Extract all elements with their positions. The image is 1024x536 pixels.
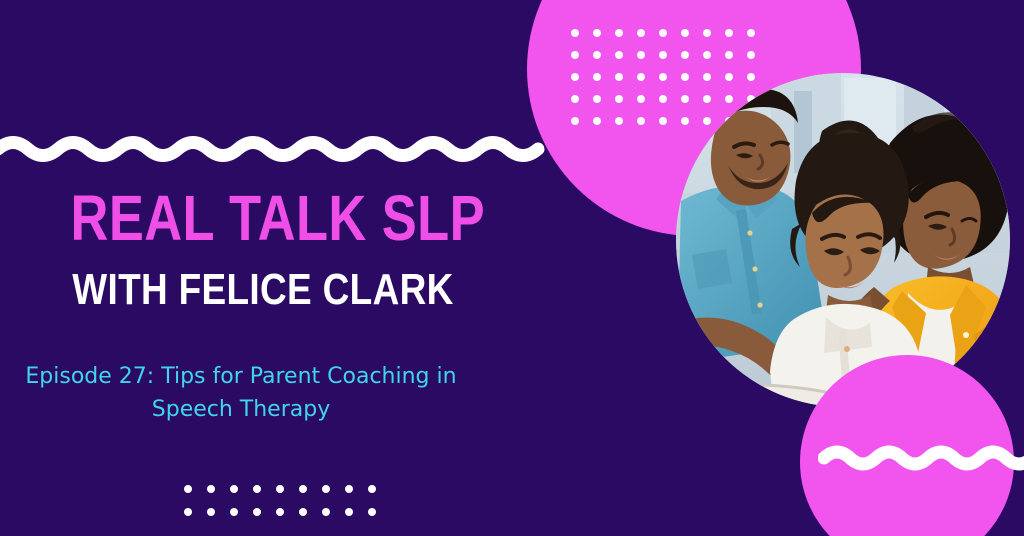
podcast-host-line: WITH FELICE CLARK bbox=[0, 250, 445, 312]
decorative-dot bbox=[703, 73, 711, 81]
decorative-dot bbox=[725, 51, 733, 59]
decorative-dot bbox=[593, 73, 601, 81]
decorative-dot bbox=[593, 117, 601, 125]
decorative-dot bbox=[571, 117, 579, 125]
decorative-dot bbox=[253, 508, 261, 516]
decorative-dot bbox=[747, 73, 755, 81]
family-photo-illustration bbox=[676, 73, 1010, 407]
decorative-dot bbox=[659, 73, 667, 81]
decorative-dot bbox=[637, 73, 645, 81]
decorative-dot bbox=[659, 29, 667, 37]
decorative-dot bbox=[368, 485, 376, 493]
decorative-dot bbox=[253, 485, 261, 493]
wave-on-circle-decoration bbox=[818, 444, 1024, 484]
decorative-dot bbox=[345, 485, 353, 493]
decorative-dot bbox=[571, 73, 579, 81]
decorative-dot bbox=[681, 117, 689, 125]
wave-top-decoration bbox=[0, 133, 552, 177]
decorative-dot bbox=[703, 95, 711, 103]
family-photo-circle bbox=[676, 73, 1010, 407]
title-text-block: REAL TALK SLP WITH FELICE CLARK Episode … bbox=[0, 186, 530, 426]
decorative-dot bbox=[571, 51, 579, 59]
decorative-dot bbox=[322, 485, 330, 493]
decorative-dot bbox=[659, 95, 667, 103]
decorative-dot bbox=[725, 29, 733, 37]
decorative-dot bbox=[659, 51, 667, 59]
decorative-dot bbox=[230, 508, 238, 516]
decorative-dot bbox=[207, 485, 215, 493]
decorative-dot bbox=[637, 29, 645, 37]
decorative-dot bbox=[322, 508, 330, 516]
decorative-dot bbox=[615, 95, 623, 103]
decorative-dot bbox=[615, 29, 623, 37]
decorative-dot bbox=[747, 51, 755, 59]
decorative-dot bbox=[703, 117, 711, 125]
decorative-dot bbox=[681, 73, 689, 81]
decorative-dot bbox=[571, 29, 579, 37]
decorative-dot bbox=[703, 51, 711, 59]
decorative-dot bbox=[725, 73, 733, 81]
decorative-dot bbox=[681, 95, 689, 103]
decorative-dot bbox=[276, 508, 284, 516]
decorative-dot bbox=[615, 51, 623, 59]
podcast-cover-canvas: REAL TALK SLP WITH FELICE CLARK Episode … bbox=[0, 0, 1024, 536]
decorative-dot bbox=[230, 485, 238, 493]
decorative-dot bbox=[703, 29, 711, 37]
decorative-dot bbox=[299, 508, 307, 516]
decorative-dot bbox=[637, 95, 645, 103]
podcast-title: REAL TALK SLP bbox=[0, 186, 435, 250]
decorative-dot bbox=[747, 29, 755, 37]
decorative-dot bbox=[725, 95, 733, 103]
decorative-dot bbox=[593, 51, 601, 59]
decorative-dot bbox=[299, 485, 307, 493]
decorative-dot bbox=[276, 485, 284, 493]
decorative-dot bbox=[681, 29, 689, 37]
decorative-dot bbox=[368, 508, 376, 516]
decorative-dot bbox=[659, 117, 667, 125]
episode-title: Episode 27: Tips for Parent Coaching in … bbox=[0, 312, 482, 426]
decorative-dot bbox=[637, 51, 645, 59]
decorative-dot bbox=[345, 508, 353, 516]
decorative-dot bbox=[615, 117, 623, 125]
decorative-dot bbox=[681, 51, 689, 59]
decorative-dot bbox=[615, 73, 623, 81]
decorative-dot bbox=[637, 117, 645, 125]
decorative-dot bbox=[207, 508, 215, 516]
decorative-dot bbox=[593, 95, 601, 103]
decorative-dot bbox=[184, 485, 192, 493]
decorative-dot bbox=[593, 29, 601, 37]
decorative-dot bbox=[184, 508, 192, 516]
decorative-dot bbox=[571, 95, 579, 103]
